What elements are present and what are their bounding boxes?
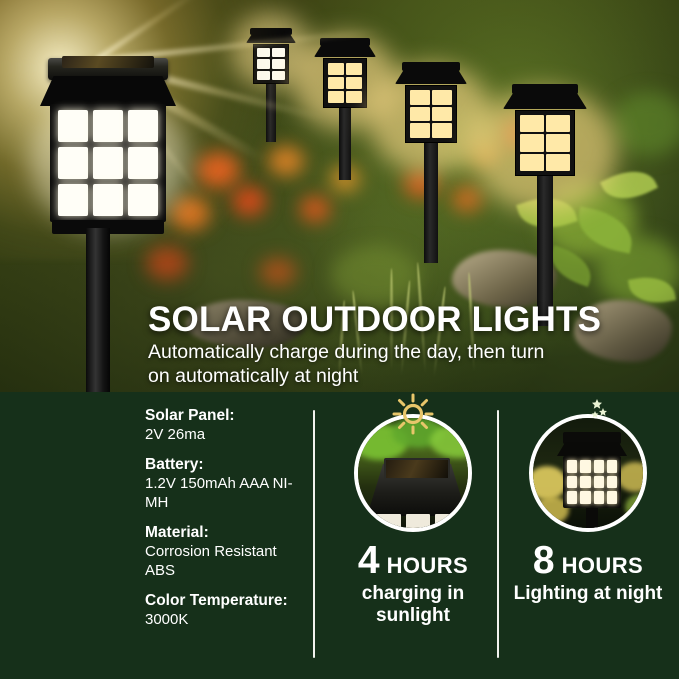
charging-hours-unit: HOURS xyxy=(387,553,468,579)
product-marketing-image: SOLAR OUTDOOR LIGHTS Automatically charg… xyxy=(0,0,679,679)
spec-label: Color Temperature: xyxy=(145,591,310,610)
lighting-badge xyxy=(529,414,647,532)
feature-charging: 4 HOURS charging in sunlight xyxy=(330,392,496,627)
lighting-hours-number: 8 xyxy=(533,541,555,580)
column-divider xyxy=(497,410,499,658)
moon-stars-icon xyxy=(565,392,611,436)
background-lantern xyxy=(310,30,380,180)
lantern-panes xyxy=(58,110,158,216)
spec-item: Battery: 1.2V 150mAh AAA NI-MH xyxy=(145,455,310,512)
solar-lantern-product xyxy=(34,30,184,230)
spec-item: Color Temperature: 3000K xyxy=(145,591,310,629)
charging-description: charging in sunlight xyxy=(330,583,496,627)
lighting-hours-unit: HOURS xyxy=(562,553,643,579)
spec-value: 2V 26ma xyxy=(145,425,310,444)
feature-lighting: 8 HOURS Lighting at night xyxy=(505,392,671,605)
page-subtitle: Automatically charge during the day, the… xyxy=(148,340,548,388)
spec-value: 3000K xyxy=(145,610,310,629)
foliage-blob xyxy=(612,92,679,156)
spec-panel: Solar Panel: 2V 26ma Battery: 1.2V 150mA… xyxy=(0,392,679,679)
lighting-description: Lighting at night xyxy=(505,583,671,605)
spec-label: Material: xyxy=(145,523,310,542)
charging-badge xyxy=(354,414,472,532)
sun-icon xyxy=(391,392,435,436)
spec-list: Solar Panel: 2V 26ma Battery: 1.2V 150mA… xyxy=(145,406,310,640)
charging-hours-number: 4 xyxy=(358,541,380,580)
solar-panel-glass xyxy=(62,56,154,68)
flower-blob xyxy=(260,258,296,286)
background-lantern xyxy=(390,54,472,264)
spec-value: Corrosion Resistant ABS xyxy=(145,542,310,580)
background-lantern xyxy=(496,76,592,326)
spec-value: 1.2V 150mAh AAA NI-MH xyxy=(145,474,310,512)
spec-label: Battery: xyxy=(145,455,310,474)
lantern-roof xyxy=(40,76,176,106)
spec-item: Solar Panel: 2V 26ma xyxy=(145,406,310,444)
spec-label: Solar Panel: xyxy=(145,406,310,425)
lighting-hours: 8 HOURS xyxy=(505,541,671,580)
charging-hours: 4 HOURS xyxy=(330,541,496,580)
spec-item: Material: Corrosion Resistant ABS xyxy=(145,523,310,580)
column-divider xyxy=(313,410,315,658)
page-title: SOLAR OUTDOOR LIGHTS xyxy=(148,300,601,340)
